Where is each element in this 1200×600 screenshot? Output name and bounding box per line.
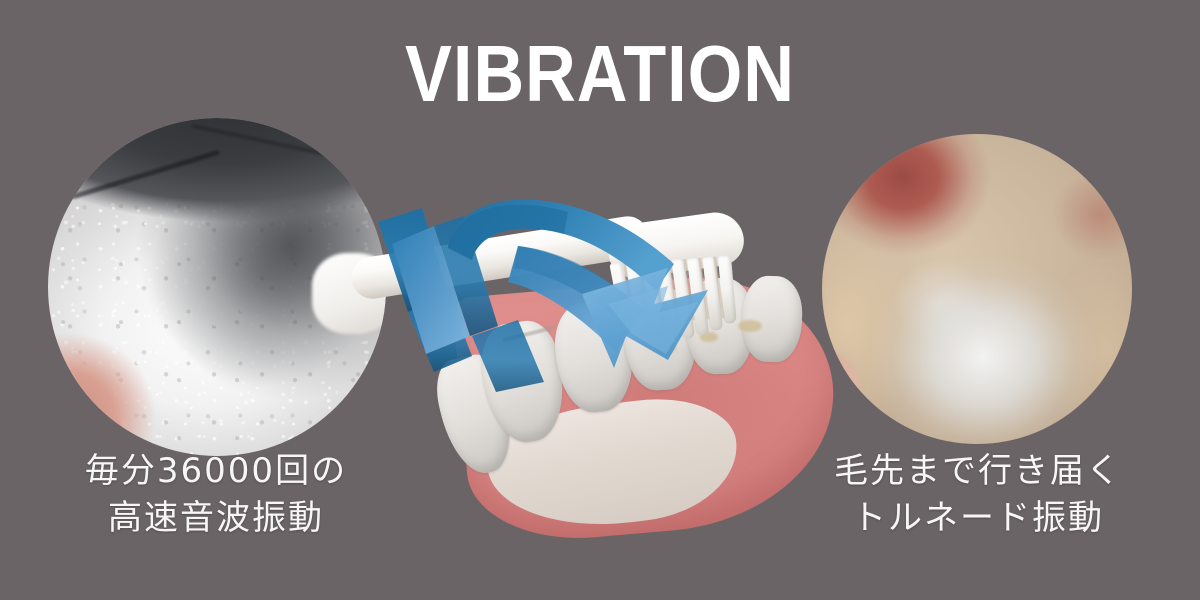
caption-left-line-1: 毎分36000回の [46, 448, 386, 495]
foam-closeup-inset [48, 118, 386, 456]
caption-right-line-2: トルネード振動 [800, 495, 1156, 542]
page-title: VIBRATION [72, 34, 1128, 114]
tornado-spiral-arrow [368, 186, 728, 396]
caption-left: 毎分36000回の 高速音波振動 [46, 448, 386, 542]
caption-left-line-2: 高速音波振動 [46, 495, 386, 542]
tooth-white-layer [822, 134, 1132, 444]
caption-right-line-1: 毛先まで行き届く [800, 448, 1156, 495]
vibration-infographic: VIBRATION 毎分36000回の 高速音波振動 毛先まで行き届く トルネー… [0, 0, 1200, 600]
caption-right: 毛先まで行き届く トルネード振動 [800, 448, 1156, 542]
tooth-surface-closeup-inset [822, 134, 1132, 444]
